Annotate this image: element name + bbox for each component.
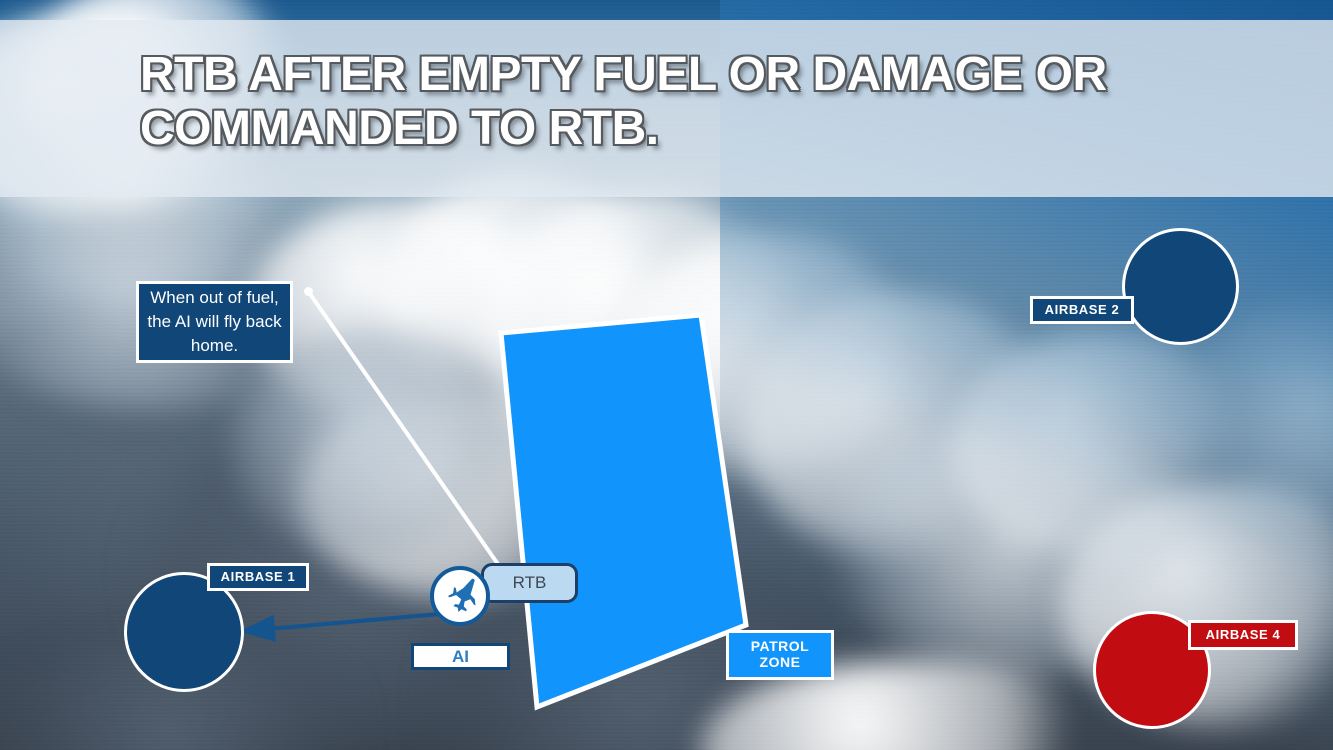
ai-label[interactable]: AI bbox=[411, 643, 510, 670]
connector-endpoint-dot bbox=[304, 287, 313, 296]
patrol-zone-label[interactable]: PATROL ZONE bbox=[726, 630, 834, 680]
ai-jet-node[interactable] bbox=[430, 566, 490, 626]
fighter-jet-icon bbox=[439, 575, 481, 617]
ai-to-airbase1-arrow bbox=[245, 614, 440, 631]
rtb-node[interactable]: RTB bbox=[481, 563, 578, 603]
airbase-2-label[interactable]: AIRBASE 2 bbox=[1030, 296, 1134, 324]
patrol-zone-label-line1: PATROL bbox=[751, 639, 809, 655]
airbase-2-circle[interactable] bbox=[1122, 228, 1239, 345]
callout-to-rtb-line bbox=[308, 291, 502, 570]
slide-canvas: RTB AFTER EMPTY FUEL OR DAMAGE OR COMMAN… bbox=[0, 0, 1333, 750]
airbase-4-label[interactable]: AIRBASE 4 bbox=[1188, 620, 1298, 650]
patrol-zone-label-line2: ZONE bbox=[760, 655, 801, 671]
airbase-1-label[interactable]: AIRBASE 1 bbox=[207, 563, 309, 591]
callout-box[interactable]: When out of fuel, the AI will fly back h… bbox=[136, 281, 293, 363]
